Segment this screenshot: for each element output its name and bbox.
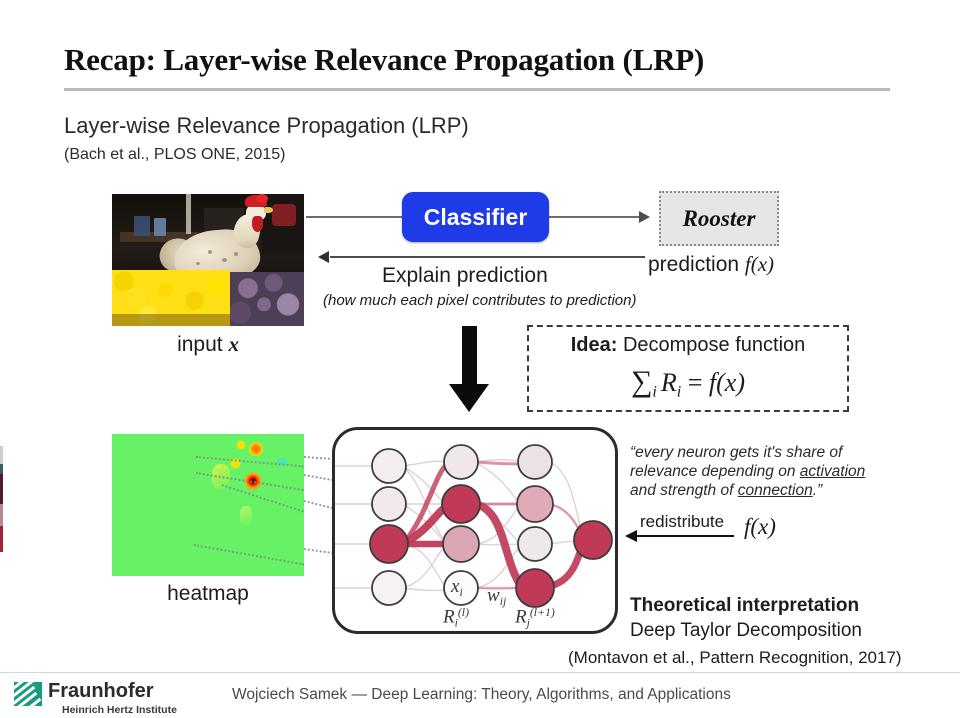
Rl-superscript: (l) — [458, 606, 469, 619]
down-arrow-head — [449, 384, 489, 412]
wij-symbol: w — [487, 585, 500, 606]
idea-heading: Idea: Decompose function — [529, 334, 847, 357]
sum-subscript: i — [652, 384, 656, 401]
rooster-comb-top — [256, 194, 268, 203]
rooster-spot — [208, 250, 212, 254]
heatmap-connector — [194, 544, 304, 565]
heatmap-hotspot-yellow — [236, 440, 246, 450]
prediction-formula: f(x) — [745, 252, 774, 276]
rooster-spot — [196, 262, 200, 265]
idea-formula: ∑iRi = f(x) — [529, 365, 847, 402]
network-diagram: xi wij Ri(l) Rj(l+1) — [332, 427, 618, 634]
redistribute-formula-text: f(x) — [744, 514, 776, 539]
function-symbol: f(x) — [709, 368, 745, 397]
photo-red-blob — [272, 204, 296, 226]
footer-talk-info: Wojciech Samek — Deep Learning: Theory, … — [232, 686, 731, 704]
idea-text: Decompose function — [617, 334, 805, 356]
edge-artifact — [0, 526, 3, 552]
input-caption-variable: x — [228, 332, 239, 356]
title-divider — [64, 88, 890, 91]
heatmap-image — [112, 434, 304, 576]
prediction-formula-caption: prediction f(x) — [648, 252, 774, 277]
quote-underline-activation: activation — [800, 463, 865, 480]
rooster-spot — [222, 258, 227, 262]
fraunhofer-logo: Fraunhofer Heinrich Hertz Institute — [14, 680, 214, 714]
page-title: Recap: Layer-wise Relevance Propagation … — [64, 42, 924, 78]
input-caption-text: input — [177, 333, 228, 356]
sum-symbol: ∑ — [631, 365, 652, 398]
theory-subtitle: Deep Taylor Decomposition — [630, 620, 862, 642]
idea-box: Idea: Decompose function ∑iRi = f(x) — [527, 325, 849, 412]
quote-part-3: .” — [813, 482, 822, 499]
heatmap-to-network-connector — [304, 548, 334, 554]
classifier-box[interactable]: Classifier — [402, 192, 549, 242]
edge-artifact — [0, 504, 3, 526]
forward-arrow-line-right — [549, 216, 639, 218]
network-graph-svg — [335, 430, 615, 631]
explain-arrow-line — [330, 256, 645, 258]
heatmap-to-network-connector — [304, 500, 334, 509]
node-label-xi: xi — [451, 576, 463, 600]
input-image-caption: input x — [112, 332, 304, 357]
rooster-wattle — [252, 216, 263, 232]
redistribute-label: redistribute — [640, 512, 724, 532]
fraunhofer-logo-icon — [14, 682, 42, 706]
prediction-output-box: Rooster — [659, 191, 779, 246]
down-arrow-shaft — [462, 326, 477, 388]
prediction-text-label: prediction — [648, 253, 745, 276]
Rl1-symbol: R — [515, 606, 527, 627]
xi-subscript: i — [459, 586, 462, 599]
photo-pole — [186, 194, 191, 234]
quote-part-2: and strength of — [630, 482, 738, 499]
redistribute-formula: f(x) — [744, 514, 776, 540]
wij-subscript: ij — [500, 595, 507, 608]
forward-arrow-line-left — [306, 216, 402, 218]
footer-divider — [0, 672, 960, 673]
rooster-spot — [234, 252, 238, 256]
heatmap-faint-region-2 — [240, 506, 252, 526]
fraunhofer-logo-name: Fraunhofer — [48, 680, 154, 703]
photo-flowers-shadow — [112, 314, 230, 326]
Rl1-superscript: (l+1) — [530, 606, 555, 619]
section-subtitle: Layer-wise Relevance Propagation (LRP) — [64, 113, 469, 139]
edge-artifact — [0, 464, 3, 474]
node-label-Rl: Ri(l) — [443, 606, 469, 631]
idea-label: Idea: — [571, 334, 618, 356]
prediction-class-label: Rooster — [683, 206, 756, 232]
redistribute-arrow-line — [636, 535, 734, 537]
explain-arrowhead — [318, 251, 329, 263]
fraunhofer-institute-name: Heinrich Hertz Institute — [62, 704, 177, 716]
Rl-symbol: R — [443, 606, 455, 627]
explain-prediction-label: Explain prediction — [382, 264, 548, 288]
theory-citation: (Montavon et al., Pattern Recognition, 2… — [568, 648, 902, 668]
redistribute-arrowhead — [625, 530, 637, 542]
heatmap-to-network-connector — [304, 456, 334, 460]
node-label-Rl1: Rj(l+1) — [515, 606, 555, 631]
slide-canvas: Recap: Layer-wise Relevance Propagation … — [0, 0, 960, 718]
photo-blue-object — [134, 216, 150, 236]
node-label-wij: wij — [487, 585, 506, 609]
relevance-symbol: R — [661, 368, 677, 397]
heatmap-to-network-connector — [304, 474, 334, 481]
equals-symbol: = — [681, 368, 709, 397]
forward-arrowhead — [639, 211, 650, 223]
theory-heading: Theoretical interpretation — [630, 595, 859, 617]
input-image-rooster-photo — [112, 194, 304, 326]
edge-artifact — [0, 474, 3, 504]
photo-blue-object-2 — [154, 218, 166, 236]
heatmap-hotspot-orange — [248, 442, 264, 456]
section-citation: (Bach et al., PLOS ONE, 2015) — [64, 146, 285, 164]
edge-artifact — [0, 446, 3, 464]
rooster-beak — [264, 207, 273, 213]
heatmap-caption: heatmap — [112, 582, 304, 606]
classifier-label: Classifier — [424, 204, 528, 231]
relevance-quote: “every neuron gets it's share of relevan… — [630, 444, 895, 501]
quote-underline-connection: connection — [738, 482, 813, 499]
photo-purple-foliage — [224, 272, 304, 326]
explain-prediction-sublabel: (how much each pixel contributes to pred… — [323, 292, 637, 309]
